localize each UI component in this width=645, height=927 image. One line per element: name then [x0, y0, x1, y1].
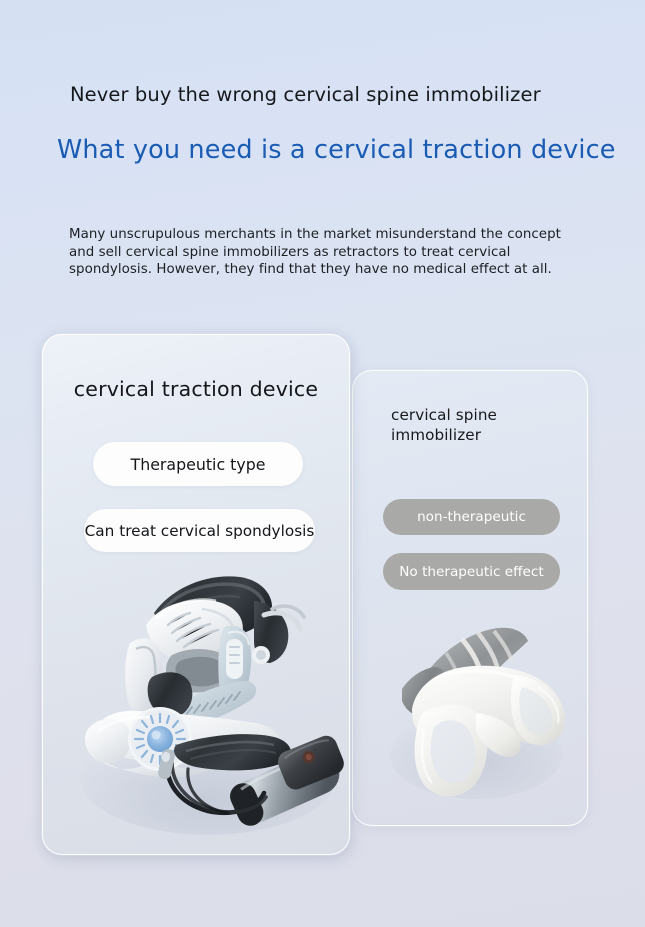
cervical-traction-device-photo — [68, 559, 350, 844]
comparison-card-immobilizer[interactable]: cervical spine immobilizer non-therapeut… — [352, 370, 588, 826]
description-paragraph: Many unscrupulous merchants in the marke… — [69, 226, 577, 279]
promotional-comparison-page: Never buy the wrong cervical spine immob… — [0, 0, 645, 927]
card-title-immobilizer: cervical spine immobilizer — [391, 405, 561, 445]
cervical-spine-immobilizer-photo — [368, 605, 583, 805]
badge-no-therapeutic-effect: No therapeutic effect — [383, 553, 560, 590]
card-title-traction-device: cervical traction device — [42, 376, 350, 403]
badge-non-therapeutic: non-therapeutic — [383, 499, 560, 535]
subheadline-text: Never buy the wrong cervical spine immob… — [70, 82, 541, 108]
badge-therapeutic-type: Therapeutic type — [93, 442, 303, 486]
badge-can-treat-spondylosis: Can treat cervical spondylosis — [84, 509, 315, 552]
page-title: What you need is a cervical traction dev… — [57, 133, 616, 167]
comparison-card-traction-device[interactable]: cervical traction device Therapeutic typ… — [42, 334, 350, 855]
